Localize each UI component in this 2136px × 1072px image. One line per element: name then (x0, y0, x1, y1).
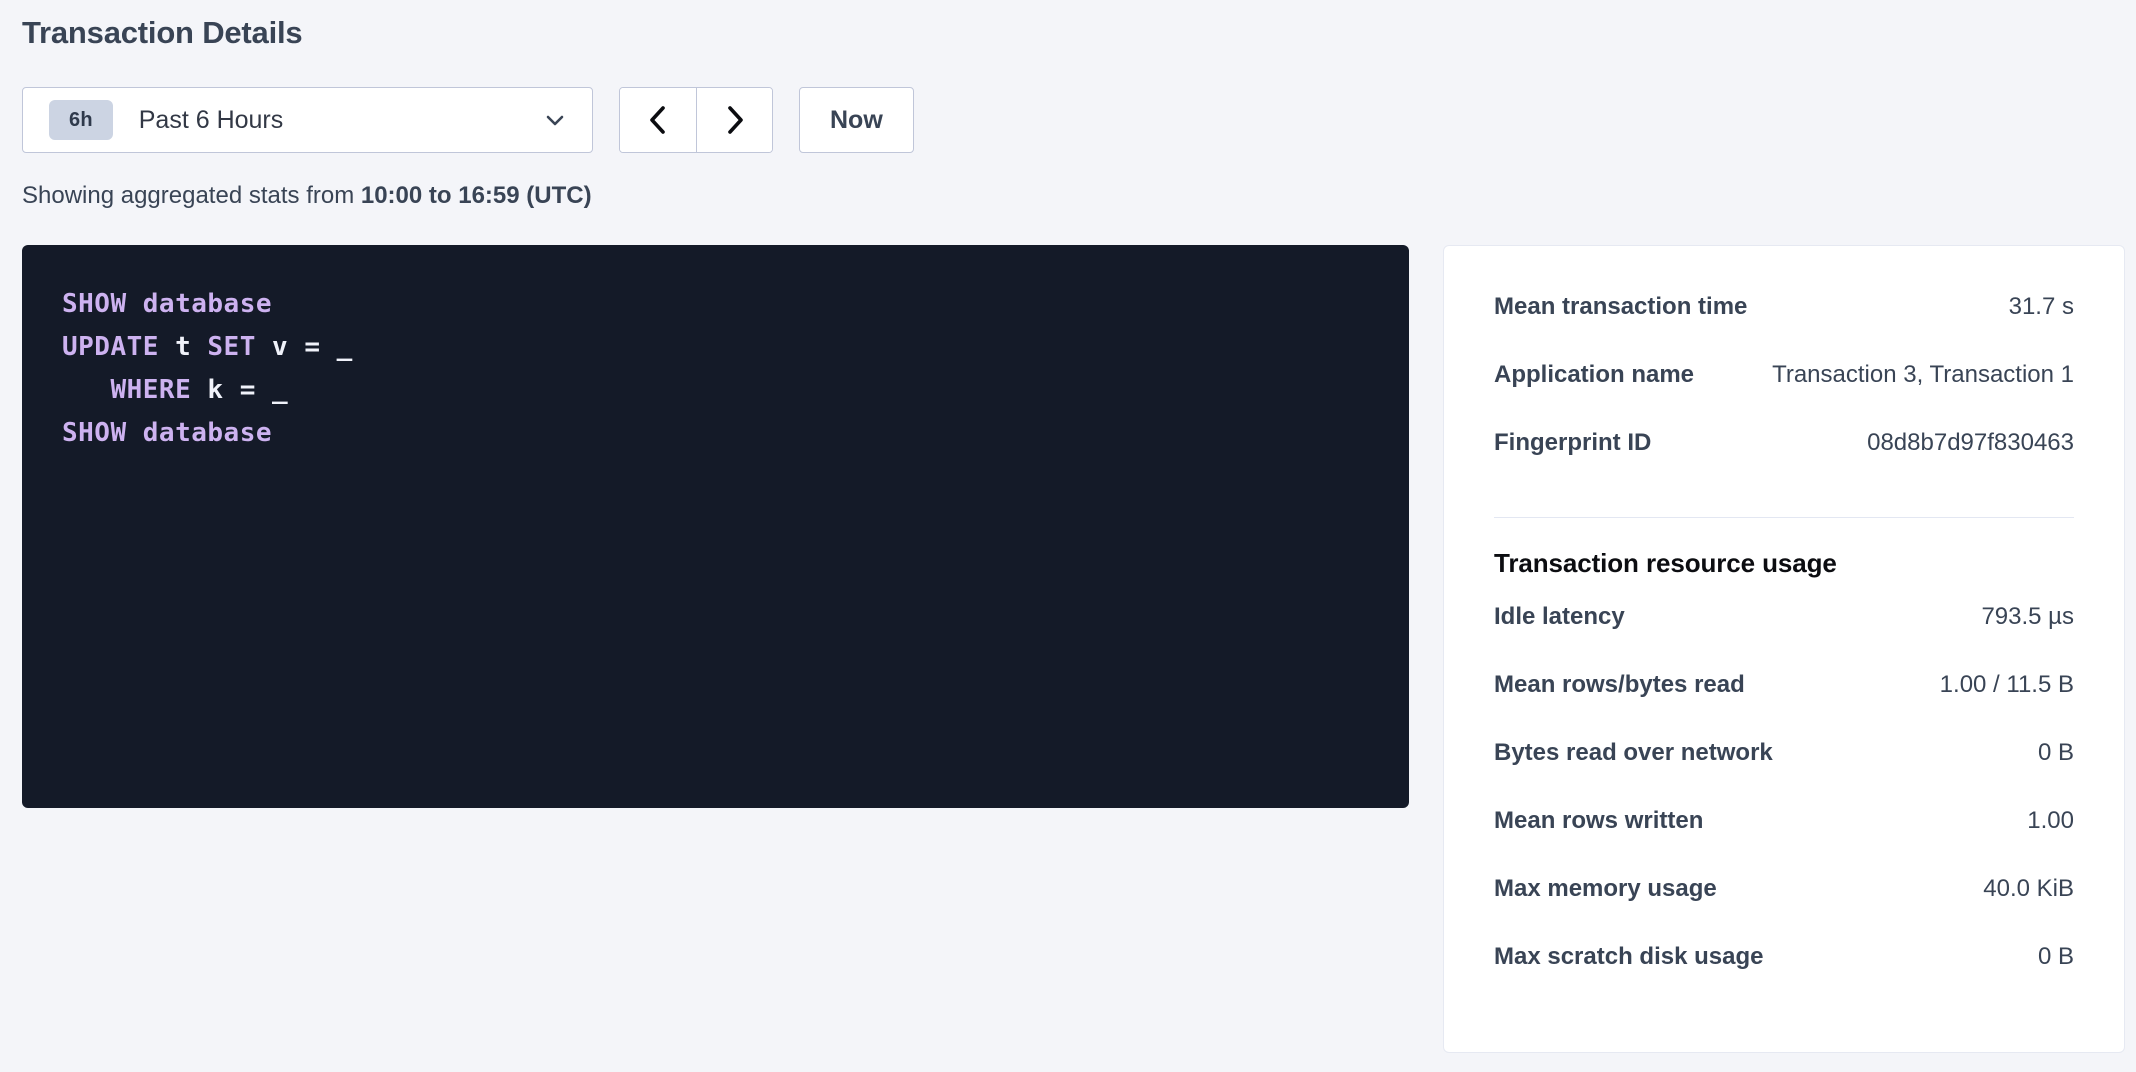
kv-key: Mean rows written (1494, 806, 1703, 836)
kv-key: Idle latency (1494, 602, 1625, 632)
kv-value: Transaction 3, Transaction 1 (1772, 360, 2074, 390)
kv-key: Max memory usage (1494, 874, 1717, 904)
time-range-toolbar: 6h Past 6 Hours (22, 87, 914, 153)
time-nav-group (619, 87, 773, 153)
kv-key: Fingerprint ID (1494, 428, 1651, 458)
usage-row: Mean rows written1.00 (1494, 806, 2074, 874)
kv-value: 1.00 / 11.5 B (1940, 670, 2074, 700)
sql-code-block: SHOW database UPDATE t SET v = _ WHERE k… (62, 283, 1409, 455)
summary-row: Fingerprint ID08d8b7d97f830463 (1494, 428, 2074, 496)
kv-value: 31.7 s (2009, 292, 2074, 322)
sql-token: v = _ (256, 332, 353, 362)
time-range-badge: 6h (49, 100, 113, 140)
usage-row: Bytes read over network0 B (1494, 738, 2074, 806)
usage-row: Mean rows/bytes read1.00 / 11.5 B (1494, 670, 2074, 738)
sql-token (127, 289, 143, 319)
time-range-label: Past 6 Hours (139, 105, 544, 135)
aggregated-stats-prefix: Showing aggregated stats from (22, 182, 361, 209)
kv-value: 08d8b7d97f830463 (1867, 428, 2074, 458)
sql-token: database (143, 289, 272, 319)
aggregated-stats-range: 10:00 to 16:59 (UTC) (361, 182, 592, 209)
kv-key: Mean rows/bytes read (1494, 670, 1745, 700)
kv-key: Max scratch disk usage (1494, 942, 1763, 972)
transaction-details-card: Mean transaction time31.7 sApplication n… (1443, 245, 2125, 1053)
kv-key: Application name (1494, 360, 1694, 390)
sql-token: t (159, 332, 207, 362)
sql-token: SHOW (62, 418, 127, 448)
usage-row: Max memory usage40.0 KiB (1494, 874, 2074, 942)
card-divider (1494, 517, 2074, 518)
resource-usage-title: Transaction resource usage (1494, 546, 2074, 580)
time-range-select[interactable]: 6h Past 6 Hours (22, 87, 593, 153)
kv-value: 793.5 µs (1981, 602, 2074, 632)
sql-token (127, 418, 143, 448)
kv-value: 1.00 (2027, 806, 2074, 836)
kv-key: Bytes read over network (1494, 738, 1773, 768)
resource-usage-list: Idle latency793.5 µsMean rows/bytes read… (1494, 602, 2074, 1010)
sql-token: SET (207, 332, 255, 362)
next-interval-button[interactable] (696, 88, 772, 152)
summary-list: Mean transaction time31.7 sApplication n… (1494, 292, 2074, 496)
sql-token: SHOW (62, 289, 127, 319)
previous-interval-button[interactable] (620, 88, 696, 152)
now-button[interactable]: Now (799, 87, 914, 153)
chevron-right-icon (720, 103, 750, 137)
aggregated-stats-note: Showing aggregated stats from 10:00 to 1… (22, 180, 592, 212)
sql-code-panel[interactable]: SHOW database UPDATE t SET v = _ WHERE k… (22, 245, 1409, 808)
sql-token: k = _ (191, 375, 288, 405)
transaction-details-page: Transaction Details 6h Past 6 Hours (0, 0, 2136, 1072)
sql-token (62, 375, 110, 405)
kv-value: 40.0 KiB (1983, 874, 2074, 904)
chevron-down-icon (544, 109, 566, 131)
chevron-left-icon (643, 103, 673, 137)
usage-row: Max scratch disk usage0 B (1494, 942, 2074, 1010)
summary-row: Application nameTransaction 3, Transacti… (1494, 360, 2074, 428)
kv-key: Mean transaction time (1494, 292, 1747, 322)
sql-token: database (143, 418, 272, 448)
summary-row: Mean transaction time31.7 s (1494, 292, 2074, 360)
sql-token: WHERE (110, 375, 191, 405)
sql-token: UPDATE (62, 332, 159, 362)
page-title: Transaction Details (22, 12, 302, 54)
usage-row: Idle latency793.5 µs (1494, 602, 2074, 670)
kv-value: 0 B (2038, 738, 2074, 768)
kv-value: 0 B (2038, 942, 2074, 972)
